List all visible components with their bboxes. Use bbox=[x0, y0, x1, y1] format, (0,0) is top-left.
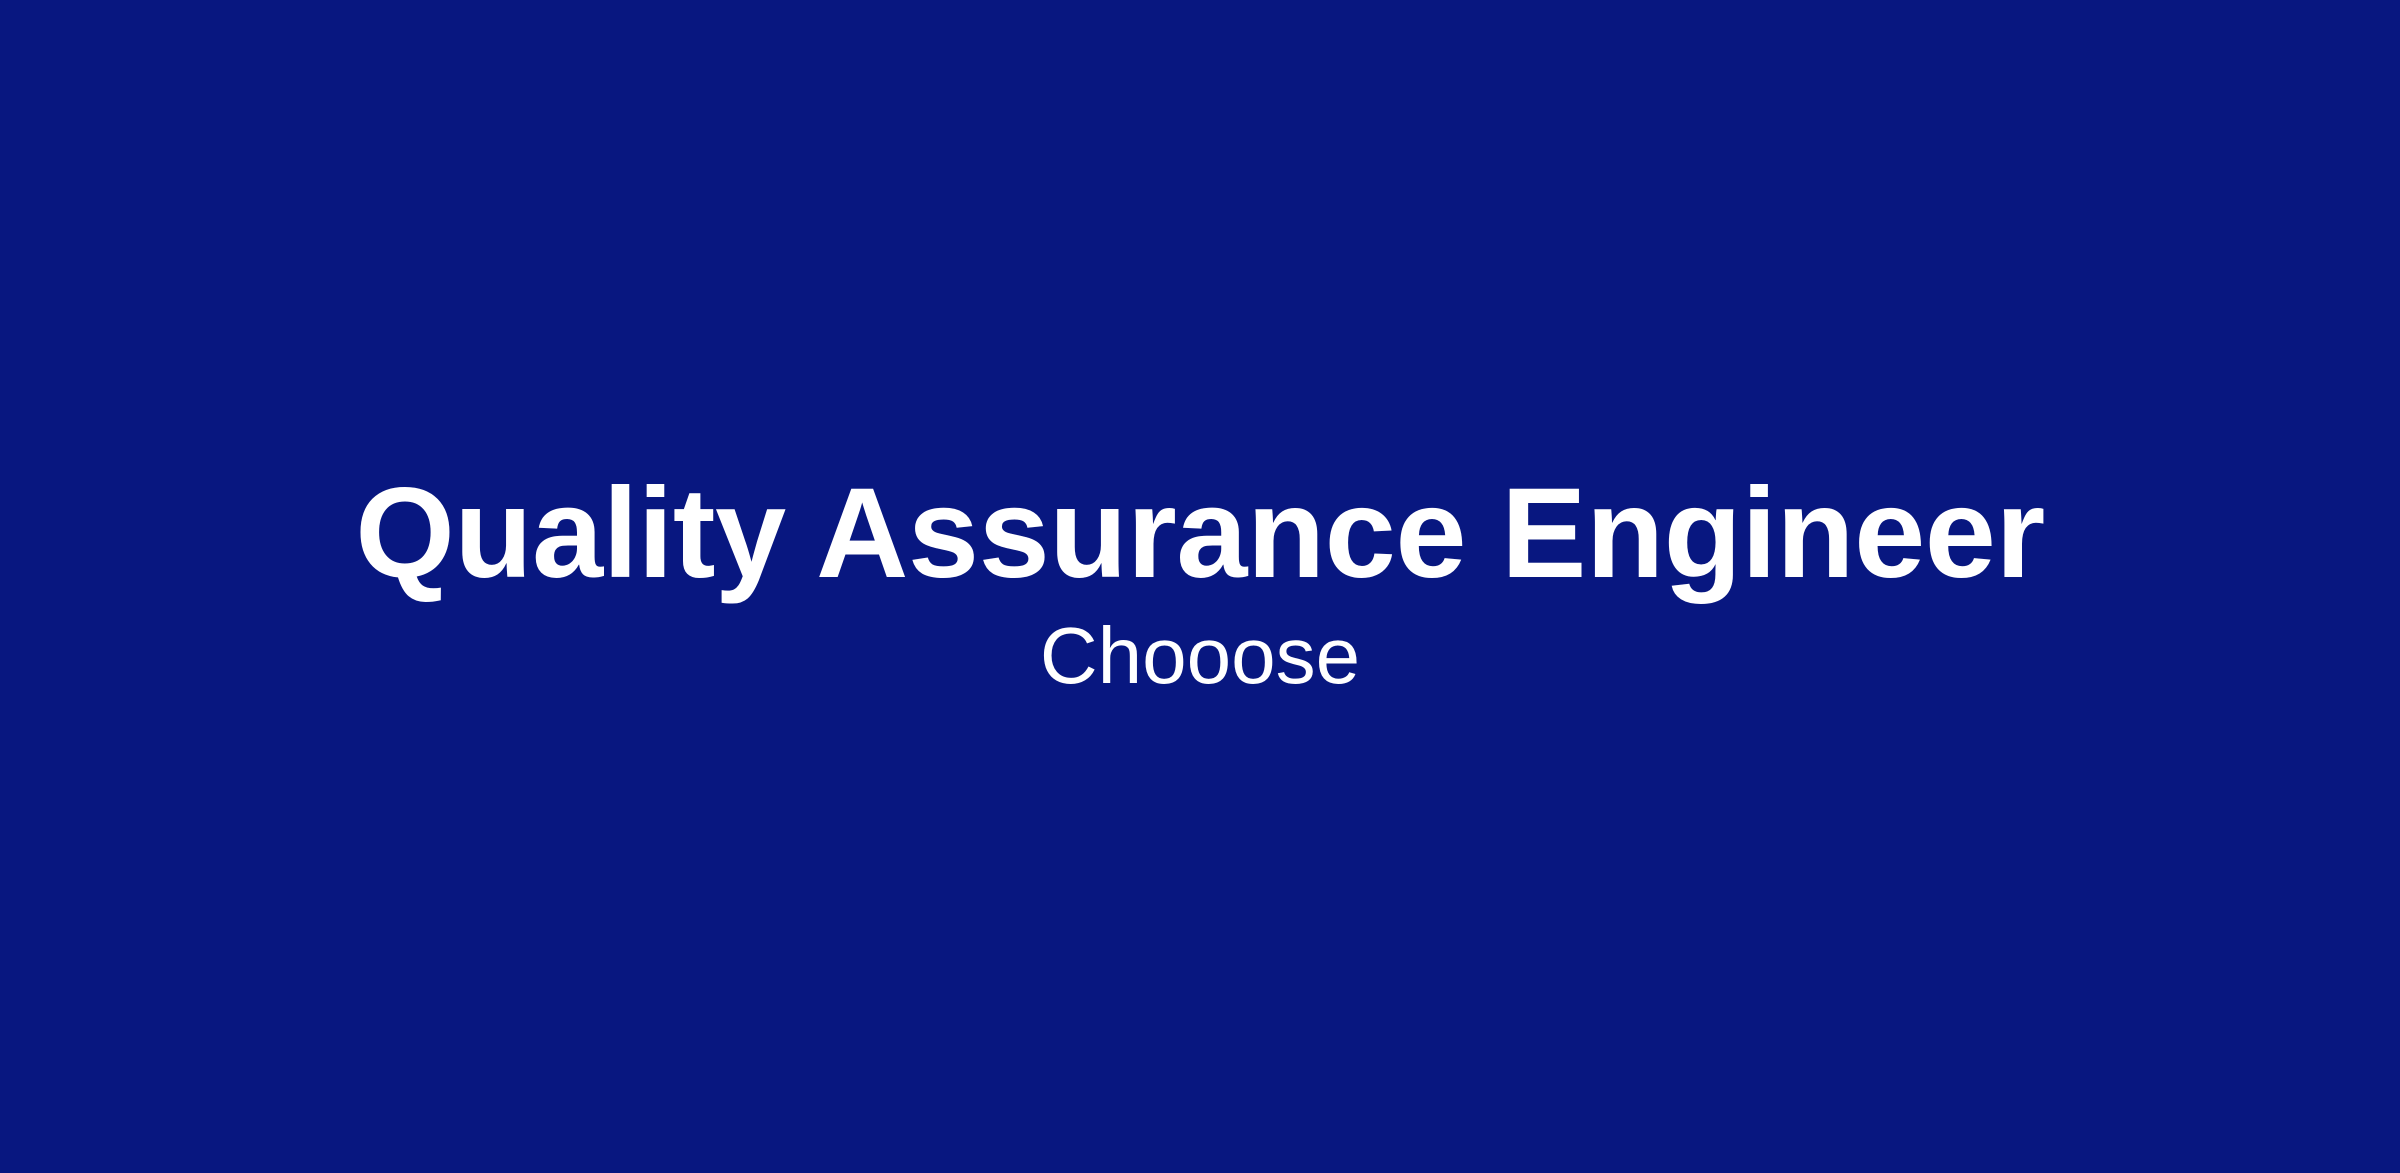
title-card-slide: Quality Assurance Engineer Chooose bbox=[0, 0, 2400, 1173]
page-subtitle: Chooose bbox=[1040, 614, 1360, 698]
page-title: Quality Assurance Engineer bbox=[355, 467, 2045, 600]
title-block: Quality Assurance Engineer Chooose bbox=[0, 467, 2400, 698]
